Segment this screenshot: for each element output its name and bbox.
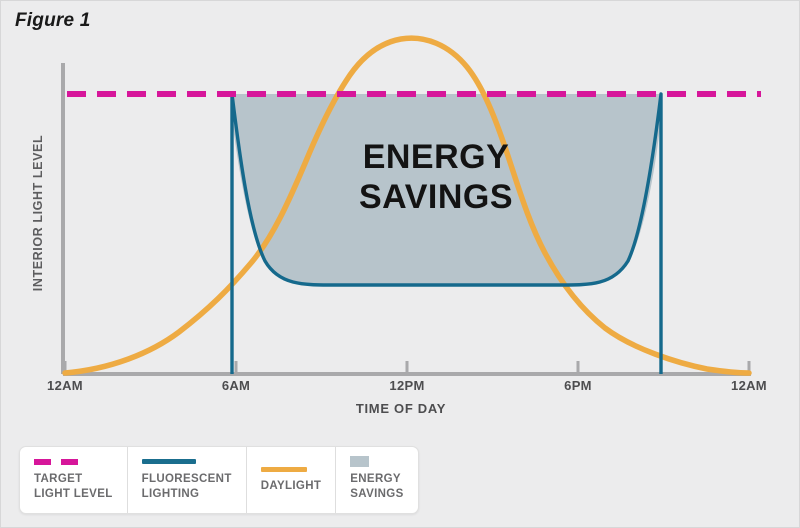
energy-savings-annotation: ENERGY SAVINGS	[301, 137, 571, 217]
chart-legend: TARGET LIGHT LEVEL FLUORESCENT LIGHTING …	[19, 446, 419, 514]
legend-item-fluorescent-lighting[interactable]: FLUORESCENT LIGHTING	[127, 447, 246, 513]
x-tick-label-12am-end: 12AM	[731, 378, 767, 393]
legend-item-daylight[interactable]: DAYLIGHT	[246, 447, 336, 513]
x-tick-label-12pm: 12PM	[389, 378, 424, 393]
legend-item-energy-savings[interactable]: ENERGY SAVINGS	[335, 447, 417, 513]
x-tick-label-12am-start: 12AM	[47, 378, 83, 393]
y-axis-title: INTERIOR LIGHT LEVEL	[31, 98, 45, 328]
x-axis-title: TIME OF DAY	[1, 401, 800, 416]
energy-savings-annotation-line1: ENERGY	[301, 137, 571, 177]
legend-label-fluorescent-lighting: FLUORESCENT LIGHTING	[142, 472, 232, 501]
legend-item-target-light-level[interactable]: TARGET LIGHT LEVEL	[20, 447, 127, 513]
legend-swatch-solid-orange-icon	[261, 466, 322, 472]
legend-swatch-dashed-magenta-icon	[34, 459, 113, 465]
chart-plot-area: INTERIOR LIGHT LEVEL 12AM 6AM 12PM 6PM 1…	[1, 1, 800, 431]
x-tick-label-6pm: 6PM	[564, 378, 592, 393]
legend-label-daylight: DAYLIGHT	[261, 479, 322, 494]
x-tick-label-6am: 6AM	[222, 378, 250, 393]
figure-container: Figure 1	[0, 0, 800, 528]
legend-label-energy-savings: ENERGY SAVINGS	[350, 472, 403, 501]
legend-swatch-block-gray-icon	[350, 459, 403, 465]
energy-savings-annotation-line2: SAVINGS	[301, 177, 571, 217]
legend-label-target-light-level: TARGET LIGHT LEVEL	[34, 472, 113, 501]
legend-swatch-solid-teal-icon	[142, 459, 232, 465]
